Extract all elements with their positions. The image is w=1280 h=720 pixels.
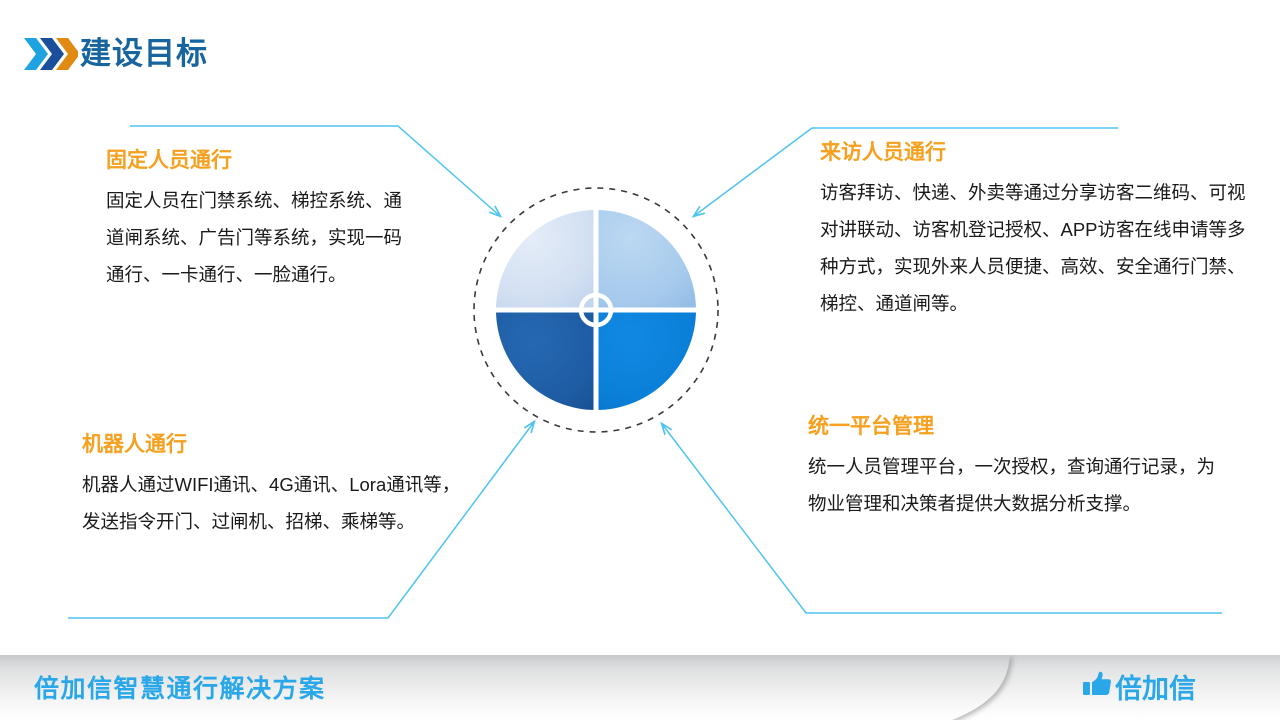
info-block-robot-passage: 机器人通行 机器人通过WIFI通讯、4G通讯、Lora通讯等，发送指令开门、过闸… [82,430,462,540]
info-block-unified-platform: 统一平台管理 统一人员管理平台，一次授权，查询通行记录，为物业管理和决策者提供大… [808,412,1228,522]
block-heading: 固定人员通行 [106,146,406,176]
block-heading: 统一平台管理 [808,412,1228,442]
block-heading: 来访人员通行 [820,138,1260,168]
block-body: 机器人通过WIFI通讯、4G通讯、Lora通讯等，发送指令开门、过闸机、招梯、乘… [82,466,462,540]
footer-brand-text: 倍加信 [1115,667,1196,706]
block-body: 固定人员在门禁系统、梯控系统、通道闸系统、广告门等系统，实现一码通行、一卡通行、… [106,182,406,293]
thumbs-up-icon [1082,670,1112,703]
block-body: 统一人员管理平台，一次授权，查询通行记录，为物业管理和决策者提供大数据分析支撑。 [808,448,1228,522]
slide-header: 建设目标 [0,0,1280,110]
info-block-visitor-personnel: 来访人员通行 访客拜访、快递、外卖等通过分享访客二维码、可视对讲联动、访客机登记… [820,138,1260,322]
quadrant-bottom-right [596,310,696,410]
block-heading: 机器人通行 [82,430,462,460]
quadrant-bottom-left [496,310,596,410]
triple-chevron-right-icon [22,34,78,74]
block-body: 访客拜访、快递、外卖等通过分享访客二维码、可视对讲联动、访客机登记授权、APP访… [820,174,1260,322]
quadrant-top-right [596,210,696,310]
slide-footer: 倍加信智慧通行解决方案 倍加信 [0,655,1280,720]
quadrant-top-left [496,210,596,310]
page-title: 建设目标 [80,33,208,75]
footer-title: 倍加信智慧通行解决方案 [34,669,326,705]
info-block-fixed-personnel: 固定人员通行 固定人员在门禁系统、梯控系统、通道闸系统、广告门等系统，实现一码通… [106,146,406,293]
footer-brand: 倍加信 [1082,667,1196,706]
four-quadrant-circle [468,182,724,438]
slide-canvas: 建设目标 [0,0,1280,720]
